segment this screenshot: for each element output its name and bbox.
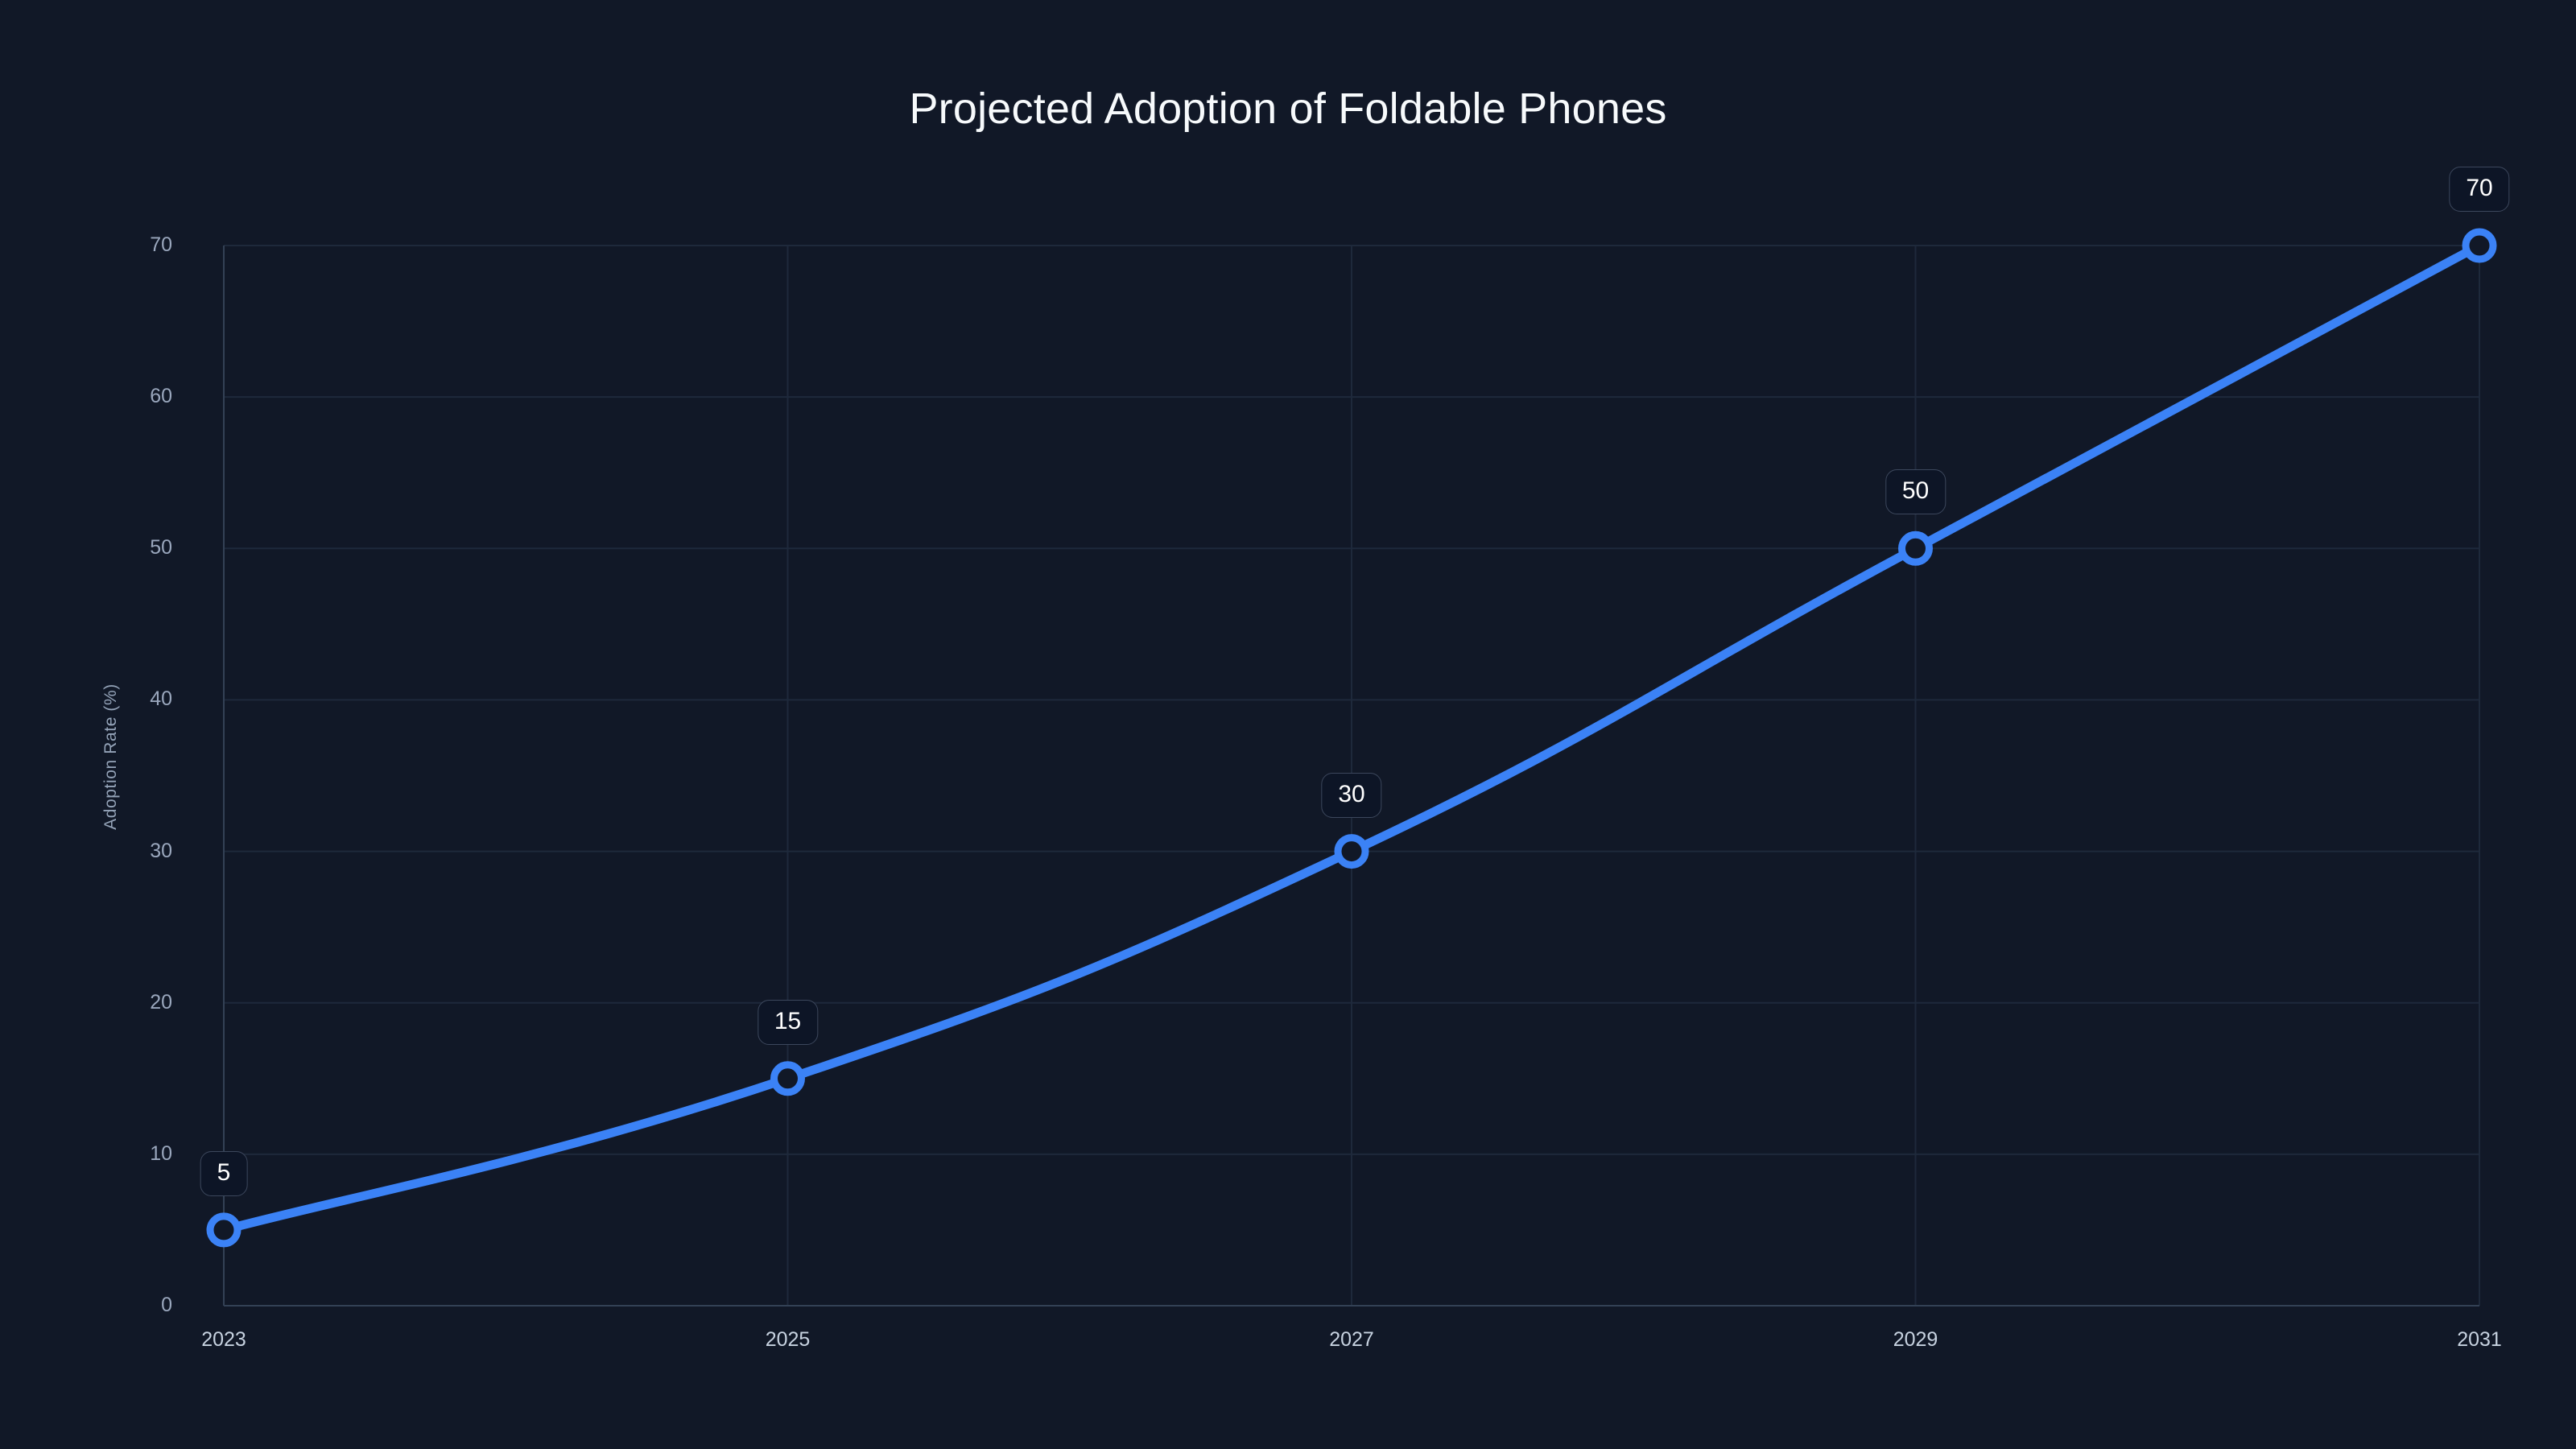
- data-point-marker[interactable]: [774, 1065, 802, 1092]
- x-axis-tick-label: 2031: [2399, 1330, 2560, 1350]
- data-point-value-label: 5: [200, 1151, 248, 1196]
- x-axis-tick-label: 2027: [1271, 1330, 1432, 1350]
- data-point-value-label: 70: [2449, 167, 2509, 212]
- x-axis-tick-label: 2029: [1835, 1330, 1996, 1350]
- data-point-value-label: 50: [1885, 469, 1946, 514]
- data-point-marker[interactable]: [210, 1216, 237, 1244]
- plot-area: [0, 0, 2576, 1449]
- data-point-marker[interactable]: [1902, 535, 1930, 562]
- data-point-marker[interactable]: [2466, 232, 2493, 259]
- data-point-value-label: 30: [1321, 773, 1381, 818]
- line-chart: Projected Adoption of Foldable Phones Ad…: [0, 0, 2576, 1449]
- x-axis-tick-label: 2023: [143, 1330, 304, 1350]
- data-point-value-label: 15: [758, 1000, 818, 1045]
- data-point-marker[interactable]: [1338, 838, 1365, 865]
- x-axis-tick-label: 2025: [708, 1330, 869, 1350]
